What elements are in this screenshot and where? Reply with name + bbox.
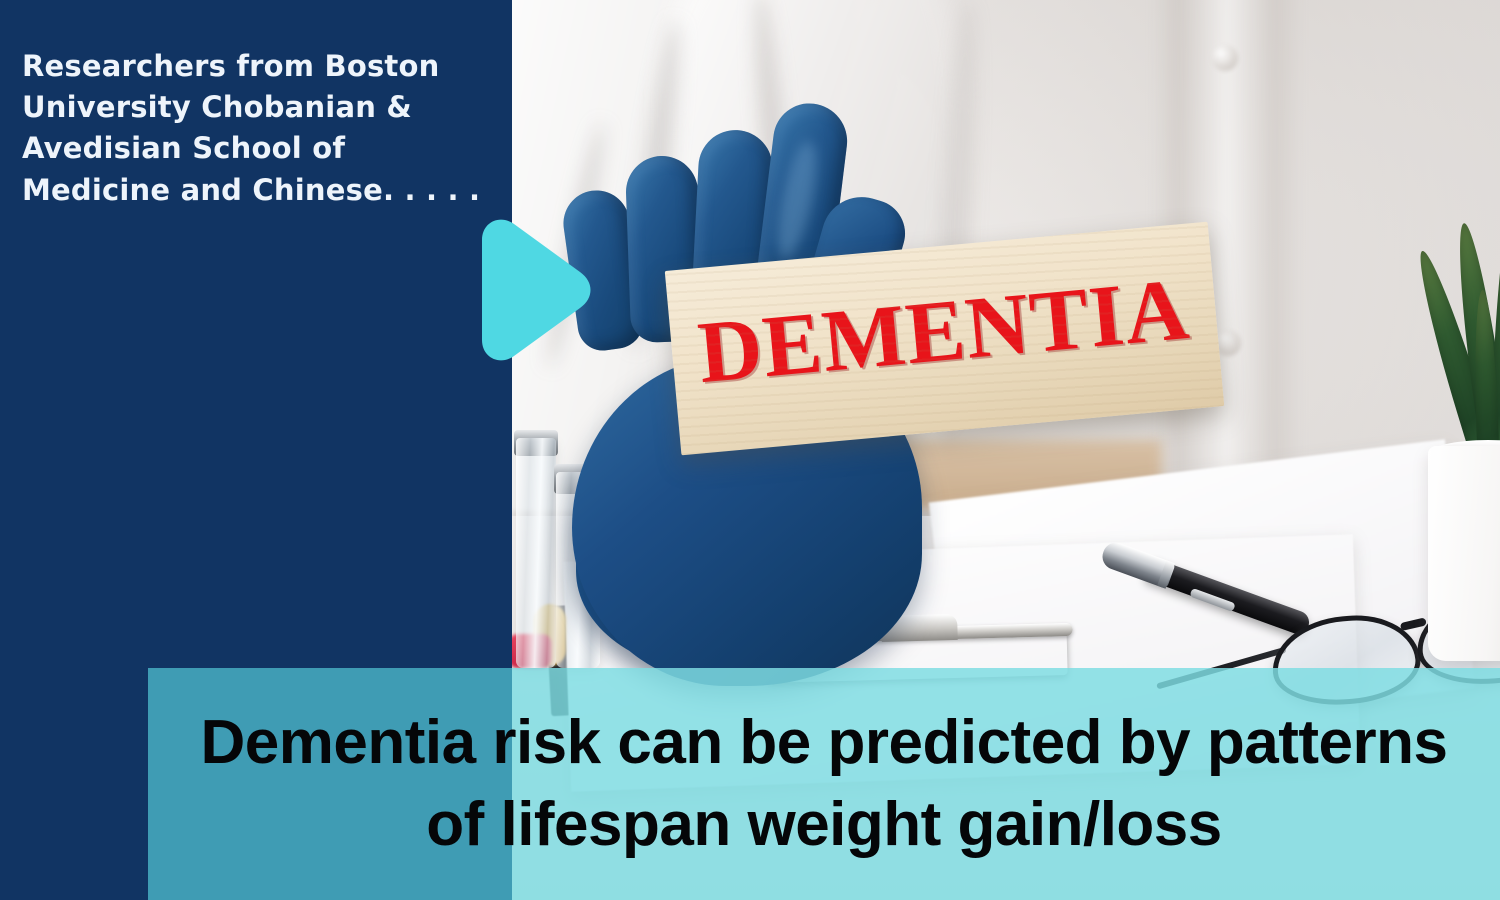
play-triangle-icon[interactable] (462, 214, 594, 366)
play-button[interactable] (462, 214, 594, 366)
headline-band: Dementia risk can be predicted by patter… (148, 668, 1500, 900)
headline-line-1: Dementia risk can be predicted by patter… (201, 702, 1448, 784)
sign-text: DEMENTIA (669, 264, 1220, 401)
news-thumbnail-card: DEMENTIA Researchers from Boston Univers… (0, 0, 1500, 900)
glass-vial (516, 438, 556, 668)
shirt-button (1212, 45, 1238, 71)
white-pot (1428, 446, 1500, 661)
article-headline: Dementia risk can be predicted by patter… (148, 668, 1500, 900)
headline-line-2: of lifespan weight gain/loss (426, 784, 1222, 866)
article-kicker: Researchers from Boston University Choba… (22, 46, 492, 211)
